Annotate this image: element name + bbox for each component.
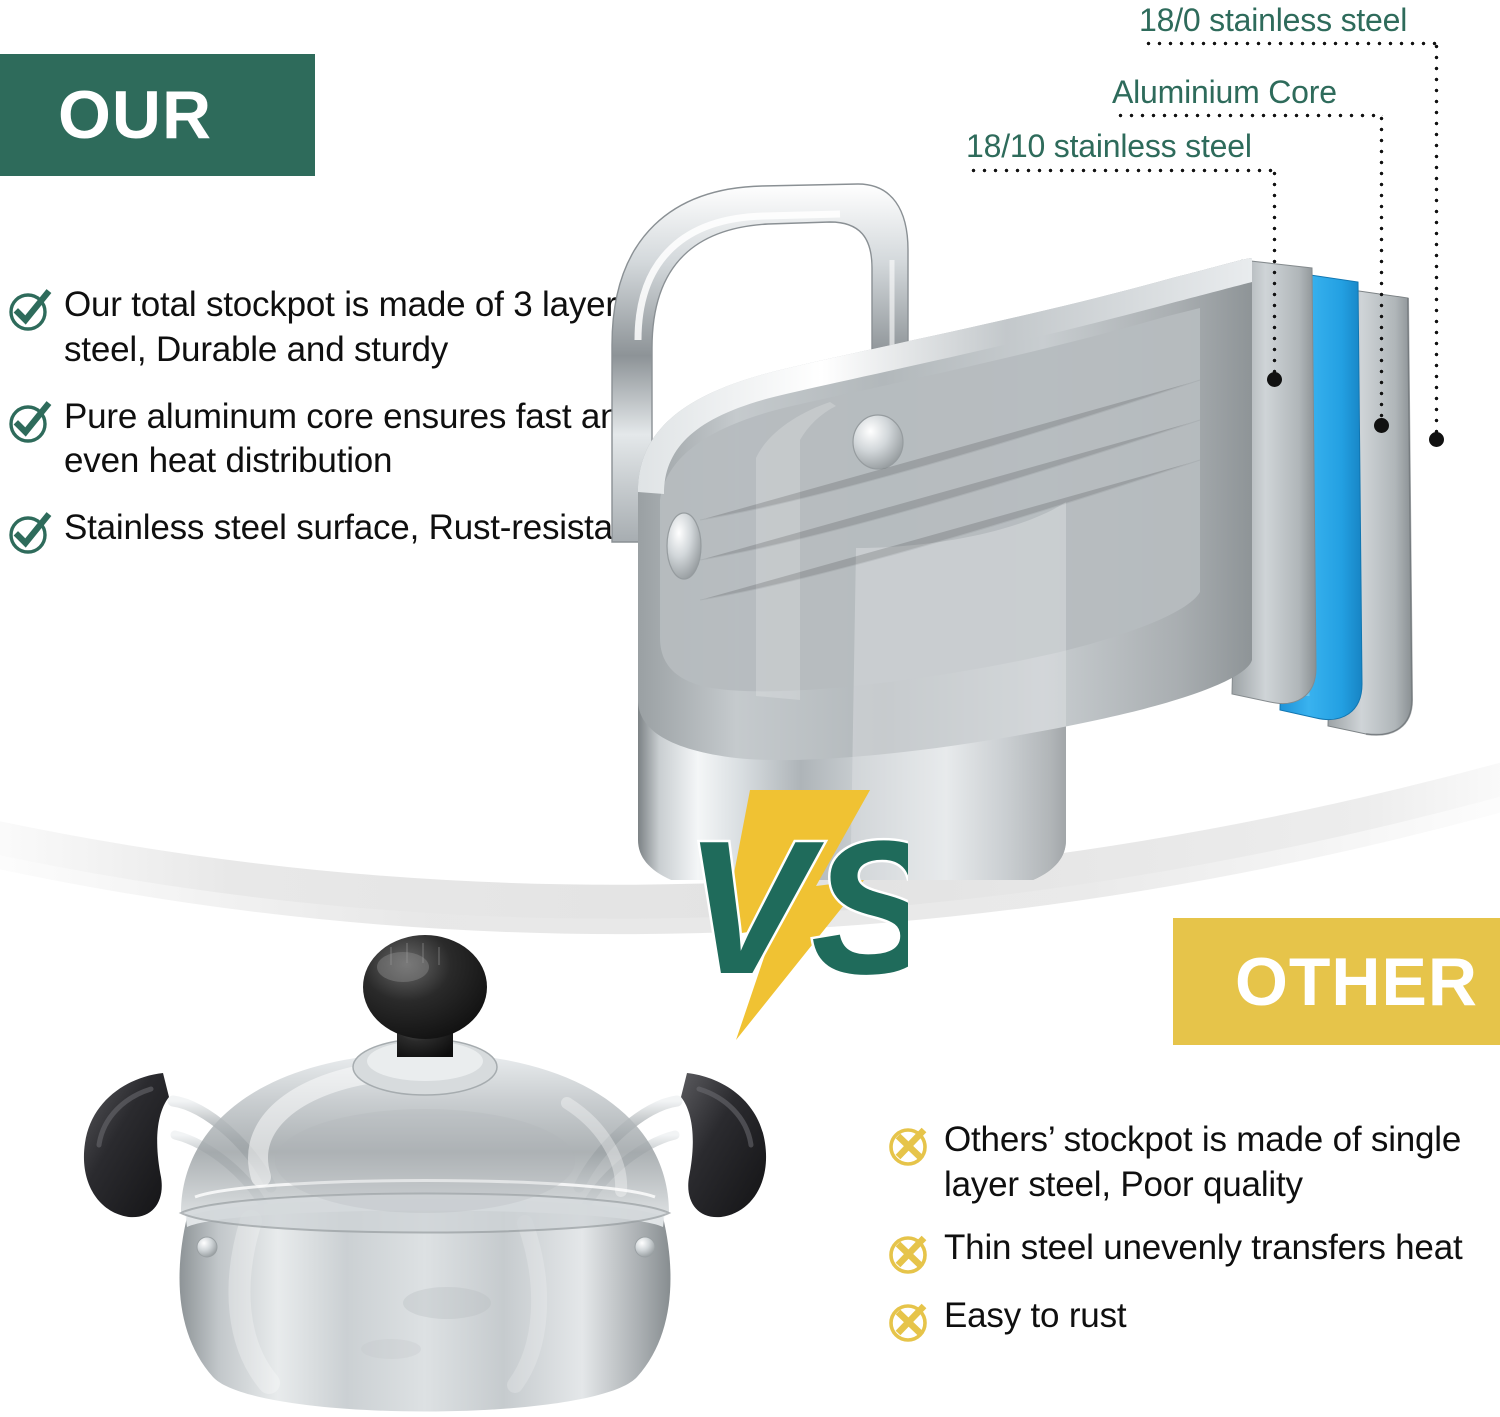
leader-line-horizontal: [968, 168, 1276, 173]
x-circle-icon: [886, 1298, 932, 1344]
x-circle-icon: [886, 1230, 932, 1276]
our-banner: OUR: [0, 54, 315, 176]
list-item: Easy to rust: [886, 1294, 1492, 1344]
callout-label: Aluminium Core: [1112, 74, 1337, 111]
other-banner: OTHER: [1173, 918, 1500, 1045]
x-circle-icon: [886, 1122, 932, 1168]
comparison-infographic: OUR Our total stockpot is made of 3 laye…: [0, 0, 1500, 1417]
our-banner-label: OUR: [58, 81, 212, 149]
leader-endpoint-dot: [1374, 418, 1389, 433]
other-banner-label: OTHER: [1235, 948, 1478, 1016]
list-item: Others’ stockpot is made of single layer…: [886, 1118, 1492, 1208]
tri-ply-stockpot-image: [500, 140, 1500, 880]
list-item-label: Others’ stockpot is made of single layer…: [944, 1118, 1492, 1208]
leader-line-vertical: [1272, 168, 1277, 378]
check-circle-icon: [6, 510, 52, 556]
check-circle-icon: [6, 399, 52, 445]
list-item-label: Thin steel unevenly transfers heat: [944, 1226, 1463, 1271]
leader-endpoint-dot: [1429, 432, 1444, 447]
list-item: Thin steel unevenly transfers heat: [886, 1226, 1492, 1276]
leader-endpoint-dot: [1267, 372, 1282, 387]
callout-label: 18/0 stainless steel: [1139, 2, 1407, 39]
callout-label: 18/10 stainless steel: [966, 128, 1252, 165]
leader-line-vertical: [1379, 113, 1384, 425]
vs-badge: VS: [678, 778, 908, 1048]
leader-line-vertical: [1434, 41, 1439, 439]
list-item-label: Easy to rust: [944, 1294, 1126, 1339]
check-circle-icon: [6, 287, 52, 333]
other-drawbacks-list: Others’ stockpot is made of single layer…: [886, 1118, 1492, 1362]
vs-badge-label: VS: [684, 802, 908, 1014]
leader-line-horizontal: [1115, 113, 1383, 118]
leader-line-horizontal: [1143, 41, 1438, 46]
